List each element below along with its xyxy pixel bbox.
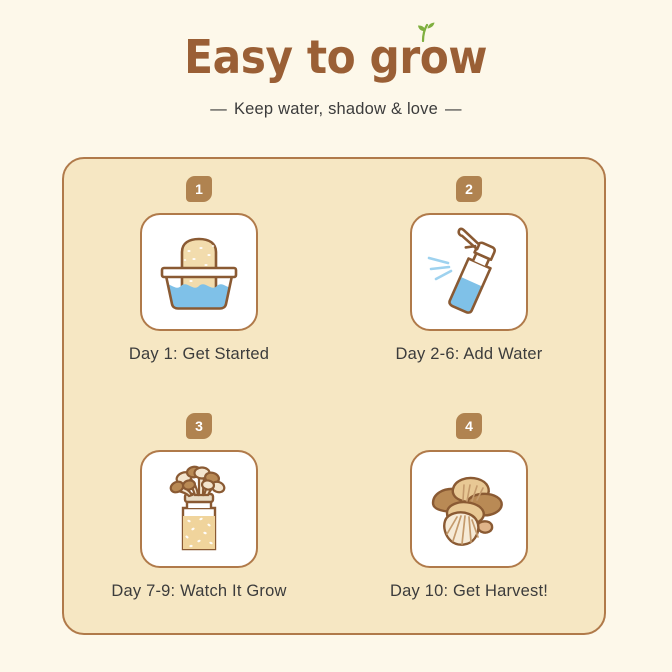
step-badge-4: 4 bbox=[456, 413, 482, 439]
title-wrap: Easy to grow bbox=[171, 34, 500, 80]
header: Easy to grow —Keep water, shadow & love— bbox=[0, 0, 672, 119]
step-badge-2: 2 bbox=[456, 176, 482, 202]
step-label-2: Day 2-6: Add Water bbox=[396, 345, 543, 364]
step-3: 3 bbox=[64, 396, 334, 633]
step-card-1[interactable] bbox=[140, 213, 258, 331]
subtitle-text: Keep water, shadow & love bbox=[234, 100, 438, 118]
step-label-3: Day 7-9: Watch It Grow bbox=[111, 582, 286, 601]
subtitle-dash-right: — bbox=[438, 100, 469, 118]
step-badge-1: 1 bbox=[186, 176, 212, 202]
steps-panel: 1 bbox=[62, 157, 606, 635]
steps-grid: 1 bbox=[64, 159, 604, 633]
step-1: 1 bbox=[64, 159, 334, 396]
step-2: 2 bbox=[334, 159, 604, 396]
step-badge-3: 3 bbox=[186, 413, 212, 439]
page-title: Easy to grow bbox=[185, 34, 488, 80]
subtitle-dash-left: — bbox=[203, 100, 234, 118]
step-card-2[interactable] bbox=[410, 213, 528, 331]
step-4: 4 bbox=[334, 396, 604, 633]
substrate-in-water-tray-icon bbox=[151, 224, 247, 320]
subtitle: —Keep water, shadow & love— bbox=[0, 100, 672, 119]
harvested-oyster-mushrooms-icon bbox=[421, 461, 517, 557]
step-card-3[interactable] bbox=[140, 450, 258, 568]
leaf-sprout-icon bbox=[411, 22, 437, 42]
step-card-4[interactable] bbox=[410, 450, 528, 568]
step-label-4: Day 10: Get Harvest! bbox=[390, 582, 548, 601]
step-label-1: Day 1: Get Started bbox=[129, 345, 269, 364]
spray-bottle-icon bbox=[421, 224, 517, 320]
growing-mushrooms-jar-icon bbox=[151, 461, 247, 557]
